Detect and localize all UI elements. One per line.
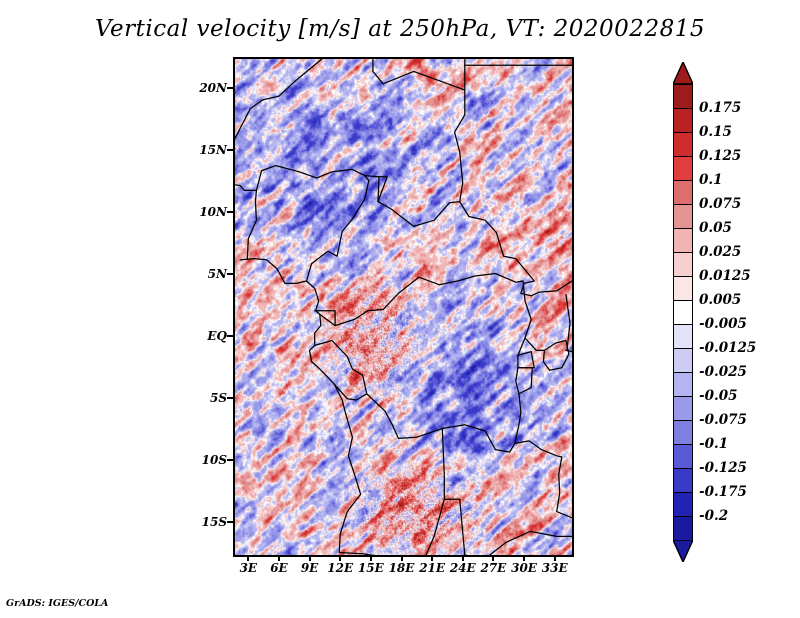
colorbar-tick-label: 0.175 [699,100,741,116]
colorbar-tick-label: -0.175 [699,484,747,500]
y-axis-tick-label: 15S [195,515,227,529]
country-border-line [557,457,572,518]
country-border-line [515,281,531,443]
country-border-line [307,176,369,281]
x-axis-tick-mark [247,555,249,561]
colorbar-band [673,492,693,517]
country-border-line [247,190,256,259]
y-axis-tick-mark [227,521,233,523]
x-axis-tick-mark [462,555,464,561]
colorbar-band [673,468,693,493]
colorbar-band [673,300,693,325]
x-axis-tick-label: 24E [450,561,476,575]
country-border-line [320,314,335,325]
grads-credit: GrADS: IGES/COLA [6,598,108,609]
colorbar-tick-label: 0.1 [699,172,723,188]
country-border-line [515,441,562,457]
map-plot-area [233,57,574,557]
x-axis-tick-label: 3E [240,561,258,575]
colorbar-tick-label: 0.025 [699,244,741,260]
x-axis-tick-label: 30E [511,561,537,575]
colorbar-band [673,228,693,253]
y-axis-tick-mark [227,335,233,337]
y-axis-tick-label: 5N [195,267,227,281]
colorbar-tick-label: -0.125 [699,460,747,476]
colorbar [673,62,693,562]
y-axis-tick-mark [227,397,233,399]
colorbar-band [673,108,693,133]
country-border-line [539,281,572,292]
y-axis-tick-label: 15N [195,143,227,157]
colorbar-tick-label: -0.1 [699,436,728,452]
x-axis-tick-mark [309,555,311,561]
country-border-line [543,341,569,371]
x-axis-tick-label: 15E [358,561,384,575]
colorbar-band [673,348,693,373]
y-axis-tick-mark [227,87,233,89]
colorbar-tick-label: -0.0125 [699,340,756,356]
colorbar-band [673,132,693,157]
x-axis-tick-mark [401,555,403,561]
country-border-line [334,384,515,452]
colorbar-band [673,276,693,301]
country-borders-overlay [235,59,572,555]
y-axis-tick-label: 10S [195,453,227,467]
colorbar-tick-label: 0.005 [699,292,741,308]
y-axis-tick-label: 5S [195,391,227,405]
y-axis-tick-label: EQ [195,329,227,343]
colorbar-bottom-arrow [673,540,693,562]
x-axis-tick-mark [492,555,494,561]
country-border-line [518,368,532,394]
x-axis-tick-mark [554,555,556,561]
y-axis-tick-label: 20N [195,81,227,95]
colorbar-band [673,252,693,277]
colorbar-tick-label: -0.005 [699,316,747,332]
colorbar-tick-label: 0.075 [699,196,741,212]
x-axis-tick-label: 9E [301,561,319,575]
country-border-line [368,274,523,311]
y-axis-tick-mark [227,149,233,151]
colorbar-band [673,396,693,421]
country-border-line [315,311,368,326]
colorbar-band [673,444,693,469]
page-title: Vertical velocity [m/s] at 250hPa, VT: 2… [0,16,800,42]
colorbar-band [673,420,693,445]
country-border-line [339,499,444,560]
country-border-line [256,166,364,191]
colorbar-band [673,156,693,181]
x-axis-tick-mark [523,555,525,561]
country-border-line [525,338,544,350]
country-border-line [465,531,572,558]
colorbar-band [673,372,693,397]
colorbar-band [673,516,693,541]
colorbar-tick-label: -0.025 [699,364,747,380]
x-axis-tick-label: 21E [419,561,445,575]
colorbar-tick-label: 0.125 [699,148,741,164]
colorbar-band [673,324,693,349]
country-border-line [220,153,257,190]
y-axis-tick-label: 10N [195,205,227,219]
colorbar-band [673,204,693,229]
y-axis-tick-mark [227,273,233,275]
country-border-line [263,53,332,100]
colorbar-top-arrow [673,62,693,84]
x-axis-tick-mark [278,555,280,561]
x-axis-tick-label: 33E [542,561,568,575]
country-border-line [365,176,460,227]
country-border-line [567,350,572,351]
y-axis-tick-mark [227,459,233,461]
x-axis-tick-label: 27E [480,561,506,575]
x-axis-tick-label: 12E [327,561,353,575]
colorbar-tick-label: 0.05 [699,220,732,236]
y-axis-tick-mark [227,211,233,213]
country-border-line [240,259,361,553]
colorbar-tick-label: -0.075 [699,412,747,428]
x-axis-tick-mark [370,555,372,561]
country-border-line [455,59,465,202]
colorbar-tick-label: -0.2 [699,508,728,524]
colorbar-band [673,180,693,205]
x-axis-tick-label: 6E [270,561,288,575]
country-border-line [315,341,367,394]
country-border-line [460,202,540,296]
x-axis-tick-mark [431,555,433,561]
colorbar-tick-label: 0.15 [699,124,732,140]
colorbar-tick-label: 0.0125 [699,268,751,284]
country-border-line [518,352,534,368]
colorbar-band [673,84,693,109]
colorbar-tick-label: -0.05 [699,388,737,404]
x-axis-tick-label: 18E [389,561,415,575]
x-axis-tick-mark [339,555,341,561]
country-border-line [442,429,465,556]
